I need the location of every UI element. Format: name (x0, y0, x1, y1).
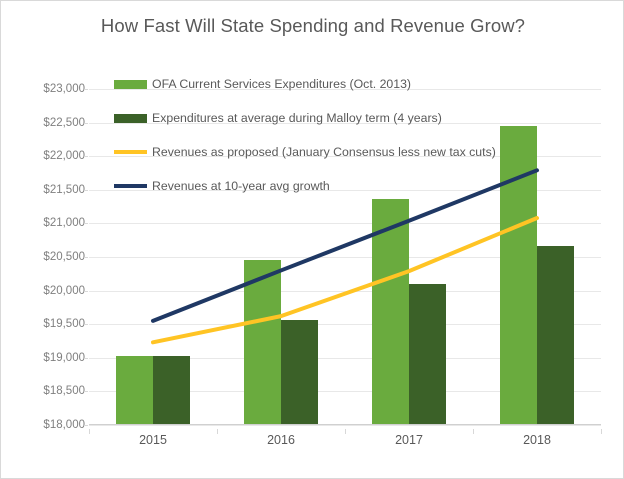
legend-item[interactable]: OFA Current Services Expenditures (Oct. … (114, 67, 584, 101)
x-axis-baseline (89, 424, 601, 425)
x-axis: 2015201620172018 (89, 429, 601, 455)
y-axis-tick-mark (84, 425, 88, 426)
x-axis-tick-mark (601, 429, 602, 434)
legend-color-box (114, 80, 147, 89)
y-axis: $23,000$22,500$22,000$21,500$21,000$20,5… (1, 89, 85, 425)
chart-title: How Fast Will State Spending and Revenue… (1, 15, 624, 37)
bar (372, 199, 409, 425)
x-axis-tick-label: 2015 (139, 433, 167, 447)
legend-item[interactable]: Revenues as proposed (January Consensus … (114, 135, 584, 169)
bar (281, 320, 318, 425)
y-axis-tick-mark (84, 190, 88, 191)
legend-item-label: OFA Current Services Expenditures (Oct. … (152, 77, 411, 91)
y-axis-tick-mark (84, 324, 88, 325)
legend-item-label: Revenues at 10-year avg growth (152, 179, 330, 193)
legend-item-label: Revenues as proposed (January Consensus … (152, 145, 496, 159)
y-axis-tick-mark (84, 391, 88, 392)
bar (116, 356, 153, 425)
x-axis-tick-label: 2016 (267, 433, 295, 447)
bar (537, 246, 574, 425)
y-axis-tick-label: $20,500 (11, 251, 85, 263)
y-axis-tick-mark (84, 291, 88, 292)
legend-color-box (114, 114, 147, 123)
y-axis-tick-label: $20,000 (11, 285, 85, 297)
legend-item[interactable]: Revenues at 10-year avg growth (114, 169, 584, 203)
y-axis-tick-label: $21,000 (11, 217, 85, 229)
legend-color-line (114, 184, 147, 188)
legend-item-label: Expenditures at average during Malloy te… (152, 111, 442, 125)
y-axis-tick-label: $22,500 (11, 117, 85, 129)
y-axis-tick-mark (84, 358, 88, 359)
y-axis-tick-label: $23,000 (11, 83, 85, 95)
y-axis-tick-mark (84, 223, 88, 224)
x-axis-tick-mark (217, 429, 218, 434)
bar (153, 356, 190, 425)
y-axis-tick-mark (84, 257, 88, 258)
x-axis-tick-label: 2018 (523, 433, 551, 447)
gridline (89, 425, 601, 426)
y-axis-tick-label: $19,500 (11, 318, 85, 330)
y-axis-tick-mark (84, 123, 88, 124)
y-axis-tick-mark (84, 156, 88, 157)
bar (244, 260, 281, 425)
legend-item[interactable]: Expenditures at average during Malloy te… (114, 101, 584, 135)
y-axis-tick-mark (84, 89, 88, 90)
y-axis-tick-label: $22,000 (11, 150, 85, 162)
chart-container: How Fast Will State Spending and Revenue… (0, 0, 624, 479)
bar (409, 284, 446, 425)
legend-color-line (114, 150, 147, 154)
x-axis-tick-mark (473, 429, 474, 434)
y-axis-tick-label: $18,000 (11, 419, 85, 431)
x-axis-tick-mark (345, 429, 346, 434)
x-axis-tick-mark (89, 429, 90, 434)
x-axis-tick-label: 2017 (395, 433, 423, 447)
y-axis-tick-label: $21,500 (11, 184, 85, 196)
y-axis-tick-label: $18,500 (11, 385, 85, 397)
y-axis-tick-label: $19,000 (11, 352, 85, 364)
chart-legend: OFA Current Services Expenditures (Oct. … (114, 67, 584, 203)
